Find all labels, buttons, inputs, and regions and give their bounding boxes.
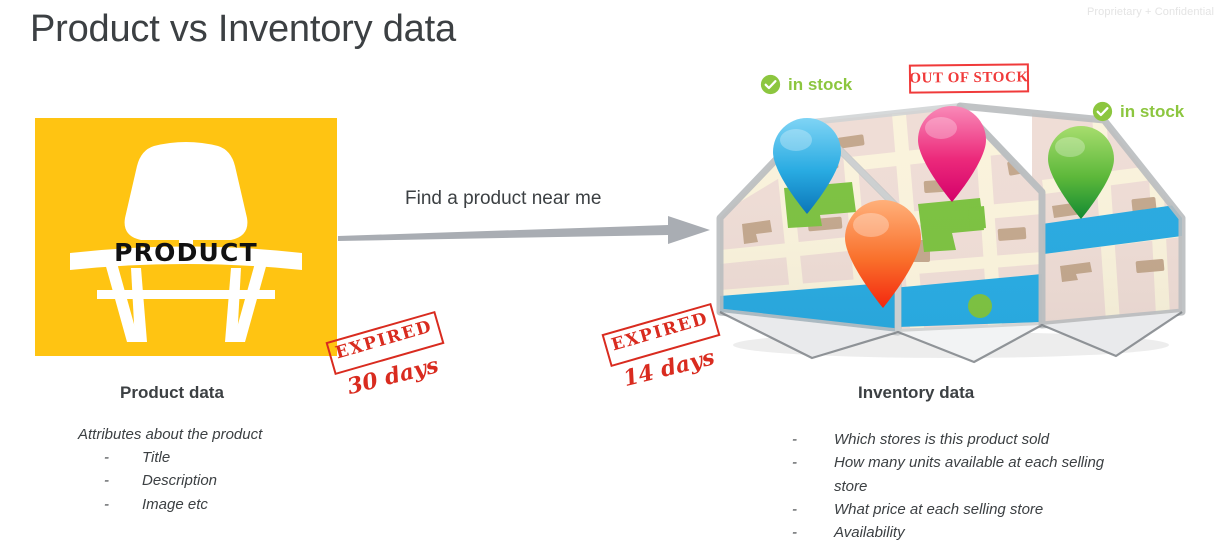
list-item-label: Image etc: [142, 493, 208, 516]
bullet-dash: -: [792, 451, 834, 498]
list-item: - What price at each selling store: [792, 498, 1122, 521]
list-item-label: Title: [142, 446, 170, 469]
list-item-label: Which stores is this product sold: [834, 428, 1049, 451]
list-item: - Which stores is this product sold: [792, 428, 1122, 451]
check-circle-icon: [1092, 101, 1113, 122]
list-item: - How many units available at each selli…: [792, 451, 1122, 498]
slide-canvas: Product vs Inventory data Proprietary + …: [0, 0, 1228, 540]
out-of-stock-stamp: OUT OF STOCK: [909, 63, 1029, 93]
confidentiality-notice: Proprietary + Confidential: [1087, 6, 1214, 18]
status-badge-in-stock-left: in stock: [760, 74, 852, 95]
status-badge-in-stock-right: in stock: [1092, 101, 1184, 122]
list-item: - Title: [104, 446, 217, 469]
list-item: - Availability: [792, 521, 1122, 544]
bullet-dash: -: [792, 521, 834, 544]
out-of-stock-stamp-label: OUT OF STOCK: [909, 69, 1029, 87]
flow-arrow-icon: [338, 210, 710, 250]
inventory-attribute-list: - Which stores is this product sold - Ho…: [792, 428, 1122, 544]
list-item-label: How many units available at each selling…: [834, 451, 1122, 498]
list-item: - Description: [104, 469, 217, 492]
bullet-dash: -: [792, 498, 834, 521]
product-image-tile: PRODUCT: [35, 118, 337, 356]
bullet-dash: -: [792, 428, 834, 451]
product-tile-label: PRODUCT: [35, 238, 337, 267]
status-badge-label: in stock: [788, 75, 852, 95]
chair-icon: [35, 118, 337, 356]
product-data-heading: Product data: [120, 383, 224, 403]
list-item-label: What price at each selling store: [834, 498, 1043, 521]
check-circle-icon: [760, 74, 781, 95]
list-item-label: Description: [142, 469, 217, 492]
list-item: - Image etc: [104, 493, 217, 516]
expired-stamp-product: EXPIRED 30 days: [322, 312, 472, 408]
page-title: Product vs Inventory data: [30, 8, 456, 51]
status-badge-label: in stock: [1120, 102, 1184, 122]
inventory-data-heading: Inventory data: [858, 383, 974, 403]
folded-map-illustration: [712, 100, 1190, 372]
bullet-dash: -: [104, 469, 142, 492]
product-intro-text: Attributes about the product: [78, 426, 262, 443]
bullet-dash: -: [104, 446, 142, 469]
expired-stamp-inventory: EXPIRED 14 days: [598, 304, 748, 400]
bullet-dash: -: [104, 493, 142, 516]
product-attribute-list: - Title - Description - Image etc: [104, 446, 217, 516]
list-item-label: Availability: [834, 521, 905, 544]
flow-arrow-label: Find a product near me: [405, 188, 601, 210]
